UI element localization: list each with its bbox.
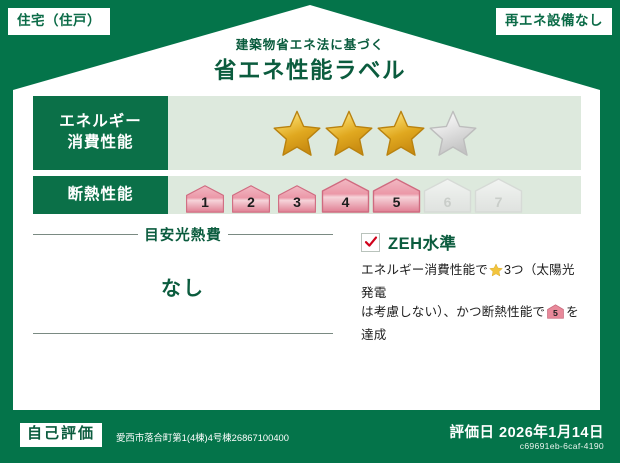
utility-cost-block: 目安光熱費 なし <box>33 224 333 345</box>
label-footer: 自己評価 愛西市落合町第1(4棟)4号棟26867100400 評価日 2026… <box>20 415 606 455</box>
self-evaluation-badge: 自己評価 <box>20 423 102 447</box>
label-content: エネルギー 消費性能 断熱性能 1234567 目安光熱費 <box>33 96 581 345</box>
badge-renewable-energy: 再エネ設備なし <box>496 8 612 35</box>
lower-section: 目安光熱費 なし ZEH水準 エネル <box>33 224 581 345</box>
title-main: 省エネ性能ラベル <box>0 57 620 84</box>
star-rating <box>272 109 478 157</box>
star-icon-filled <box>324 109 374 157</box>
small-star-icon <box>489 263 503 284</box>
zeh-title: ZEH水準 <box>388 230 457 254</box>
rule-left <box>33 234 138 235</box>
zeh-checkbox[interactable] <box>361 233 380 252</box>
insulation-performance-value: 1234567 <box>168 176 581 214</box>
label-title-block: 建築物省エネ法に基づく 省エネ性能ラベル <box>0 38 620 84</box>
zeh-description: エネルギー消費性能で 3つ（太陽光発電 は考慮しない）、かつ断熱性能で 5 を達… <box>361 261 581 345</box>
energy-performance-label: エネルギー 消費性能 <box>33 96 168 170</box>
utility-cost-divider <box>33 333 333 334</box>
check-icon <box>364 235 378 249</box>
grade-number: 1 <box>183 195 227 209</box>
insulation-grade-5: 5 <box>372 178 421 213</box>
insulation-grade-1: 1 <box>183 185 227 213</box>
property-address: 愛西市落合町第1(4棟)4号棟26867100400 <box>116 430 289 444</box>
grade-number: 3 <box>275 195 319 209</box>
zeh-desc-part1: エネルギー消費性能で <box>361 263 488 277</box>
insulation-grade-4: 4 <box>321 178 370 213</box>
zeh-desc-part2: は考慮しない）、かつ断熱性能で <box>361 305 545 319</box>
svg-text:5: 5 <box>553 308 558 318</box>
energy-label-root: 住宅（住戸） 再エネ設備なし 建築物省エネ法に基づく 省エネ性能ラベル エネルギ… <box>0 0 620 463</box>
utility-cost-title: 目安光熱費 <box>144 224 222 245</box>
evaluation-date: 評価日 2026年1月14日 <box>450 421 604 442</box>
small-grade-house-icon: 5 <box>546 304 565 326</box>
zeh-header: ZEH水準 <box>361 230 581 254</box>
energy-label-line2: 消費性能 <box>67 133 133 154</box>
utility-cost-body: なし <box>33 245 333 327</box>
zeh-block: ZEH水準 エネルギー消費性能で 3つ（太陽光発電 は考慮しない）、かつ断熱性能… <box>333 224 581 345</box>
insulation-grade-6: 6 <box>423 178 472 213</box>
star-icon-filled <box>376 109 426 157</box>
star-icon-empty <box>428 109 478 157</box>
grade-number: 7 <box>474 195 523 209</box>
utility-cost-value: なし <box>161 272 205 301</box>
energy-performance-value <box>168 96 581 170</box>
grade-number: 6 <box>423 195 472 209</box>
label-uid: c69691eb-6caf-4190 <box>520 441 604 451</box>
insulation-performance-label: 断熱性能 <box>33 176 168 214</box>
badge-building-type: 住宅（住戸） <box>8 8 110 35</box>
insulation-performance-row: 断熱性能 1234567 <box>33 176 581 214</box>
star-icon-filled <box>272 109 322 157</box>
grade-number: 5 <box>372 195 421 209</box>
energy-label-line1: エネルギー <box>59 112 142 133</box>
utility-cost-header: 目安光熱費 <box>33 224 333 245</box>
grade-number: 4 <box>321 195 370 209</box>
insulation-label-text: 断熱性能 <box>67 185 133 206</box>
grade-number: 2 <box>229 195 273 209</box>
energy-performance-row: エネルギー 消費性能 <box>33 96 581 170</box>
rule-right <box>228 234 333 235</box>
title-subtitle: 建築物省エネ法に基づく <box>0 38 620 53</box>
insulation-grade-7: 7 <box>474 178 523 213</box>
insulation-grade-scale: 1234567 <box>183 178 523 213</box>
insulation-grade-3: 3 <box>275 185 319 213</box>
insulation-grade-2: 2 <box>229 185 273 213</box>
